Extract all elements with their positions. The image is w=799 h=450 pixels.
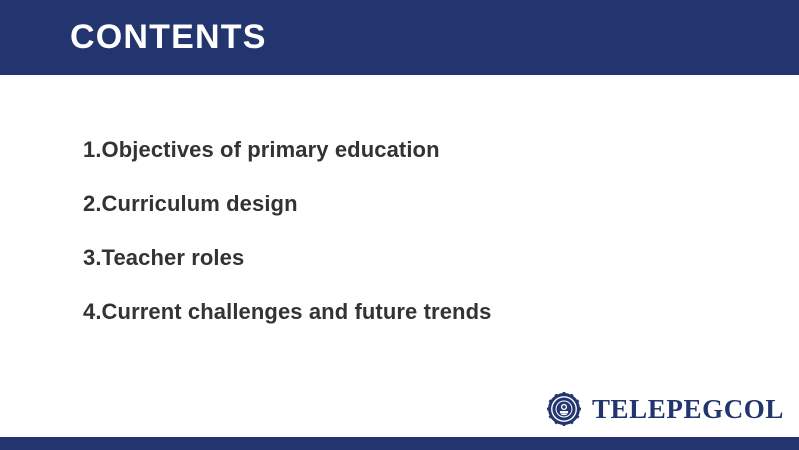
list-item[interactable]: 3.Teacher roles: [83, 243, 733, 273]
brand-wordmark: TELEPEGCOL: [592, 394, 784, 424]
list-item[interactable]: 2.Curriculum design: [83, 189, 733, 219]
footer-bar: [0, 437, 799, 450]
list-item[interactable]: 4.Current challenges and future trends: [83, 297, 733, 327]
slide: CONTENTS 1.Objectives of primary educati…: [0, 0, 799, 450]
list-item[interactable]: 1.Objectives of primary education: [83, 135, 733, 165]
header-bar: CONTENTS: [0, 0, 799, 75]
circular-seal-emblem-icon: [547, 392, 581, 426]
page-title: CONTENTS: [70, 15, 267, 59]
contents-list: 1.Objectives of primary education 2.Curr…: [83, 135, 733, 327]
brand-logo: TELEPEGCOL: [547, 391, 784, 427]
